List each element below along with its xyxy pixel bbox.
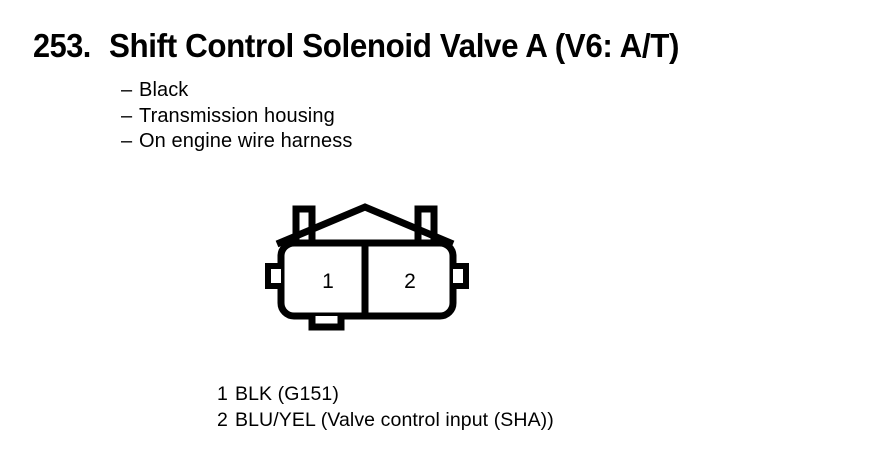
- en-dash-icon: –: [121, 104, 139, 130]
- list-item: – Black: [121, 78, 352, 104]
- attribute-list: – Black – Transmission housing – On engi…: [121, 78, 352, 155]
- list-item-label: On engine wire harness: [139, 129, 352, 155]
- legend-pin-description: BLK (G151): [235, 381, 339, 407]
- legend-pin-description: BLU/YEL (Valve control input (SHA)): [235, 407, 554, 433]
- en-dash-icon: –: [121, 78, 139, 104]
- left-side-notch-icon: [268, 266, 281, 286]
- page-title-text: Shift Control Solenoid Valve A (V6: A/T): [109, 27, 679, 65]
- legend-row: 2 BLU/YEL (Valve control input (SHA)): [217, 407, 554, 433]
- list-item-label: Transmission housing: [139, 104, 335, 130]
- left-locking-tab-icon: [296, 209, 312, 243]
- page-title: 253. Shift Control Solenoid Valve A (V6:…: [33, 27, 709, 65]
- list-item: – Transmission housing: [121, 104, 352, 130]
- legend-pin-number: 1: [217, 381, 235, 407]
- connector-ridge-icon: [277, 207, 453, 244]
- connector-illustration: 1 2: [255, 198, 475, 333]
- list-item-label: Black: [139, 78, 188, 104]
- connector-diagram: 1 2: [255, 198, 475, 333]
- cavity-label-2: 2: [404, 270, 416, 293]
- bottom-keying-tab-icon: [312, 316, 341, 327]
- legend-row: 1 BLK (G151): [217, 381, 554, 407]
- legend-pin-number: 2: [217, 407, 235, 433]
- pin-legend: 1 BLK (G151) 2 BLU/YEL (Valve control in…: [217, 381, 554, 433]
- cavity-label-1: 1: [322, 270, 334, 293]
- right-locking-tab-icon: [418, 209, 434, 243]
- page-title-number: 253.: [33, 27, 91, 65]
- list-item: – On engine wire harness: [121, 129, 352, 155]
- right-side-notch-icon: [453, 266, 466, 286]
- en-dash-icon: –: [121, 129, 139, 155]
